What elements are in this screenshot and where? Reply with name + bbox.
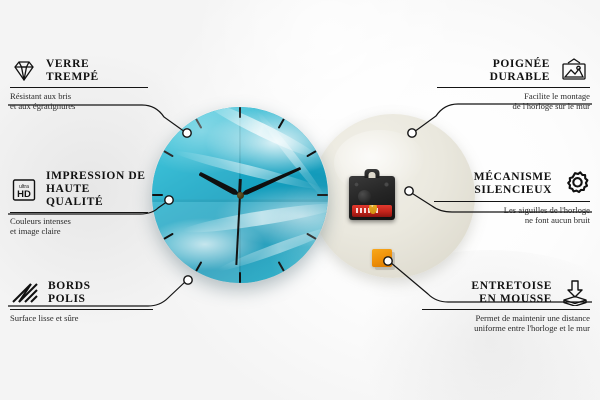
- feature-bords-polis: BORDS POLIS Surface lisse et sûre: [10, 280, 155, 323]
- feature-title: VERRE TREMPÉ: [46, 58, 99, 84]
- feature-poignee-durable: POIGNÉE DURABLE Facilite le montage de l…: [435, 58, 590, 112]
- battery-positive-terminal: [369, 205, 377, 214]
- svg-text:HD: HD: [17, 189, 31, 200]
- feature-title: POIGNÉE DURABLE: [490, 58, 550, 84]
- feature-entretoise-en-mousse: ENTRETOISE EN MOUSSE Permet de maintenir…: [420, 280, 590, 334]
- arrow-down-layers-icon: [560, 280, 590, 306]
- feature-impression-haute-qualite: ultra HD IMPRESSION DE HAUTE QUALITÉ Cou…: [10, 170, 150, 237]
- gear-icon: [560, 170, 590, 198]
- feature-divider: [434, 201, 590, 202]
- feature-description: Surface lisse et sûre: [10, 313, 155, 323]
- feature-divider: [422, 309, 590, 310]
- feature-header: VERRE TREMPÉ: [10, 58, 150, 84]
- feature-header: ENTRETOISE EN MOUSSE: [420, 280, 590, 306]
- feature-description: Couleurs intenses et image claire: [10, 216, 150, 237]
- movement-dial: [358, 190, 371, 203]
- diagonal-hatch-icon: [10, 281, 40, 305]
- ultra-hd-badge-icon: ultra HD: [10, 177, 38, 203]
- feature-mecanisme-silencieux: MÉCANISME SILENCIEUX Les aiguilles de l'…: [432, 170, 590, 226]
- feature-description: Permet de maintenir une distance uniform…: [420, 313, 590, 334]
- feature-header: MÉCANISME SILENCIEUX: [432, 170, 590, 198]
- feature-verre-trempe: VERRE TREMPÉ Résistant aux bris et aux é…: [10, 58, 150, 112]
- movement-hanger-tab: [365, 169, 380, 178]
- feature-header: BORDS POLIS: [10, 280, 155, 306]
- feature-description: Résistant aux bris et aux égratignures: [10, 91, 150, 112]
- infographic-canvas: VERRE TREMPÉ Résistant aux bris et aux é…: [0, 0, 600, 400]
- feature-header: POIGNÉE DURABLE: [435, 58, 590, 84]
- movement-screw: [384, 182, 389, 187]
- feature-title: MÉCANISME SILENCIEUX: [474, 171, 552, 197]
- feature-divider: [437, 87, 590, 88]
- feature-header: ultra HD IMPRESSION DE HAUTE QUALITÉ: [10, 170, 150, 209]
- foam-spacer: [372, 249, 392, 267]
- movement-screw: [354, 182, 359, 187]
- picture-hanger-icon: [558, 58, 590, 84]
- feature-divider: [10, 212, 148, 213]
- feature-description: Les aiguilles de l'horloge ne font aucun…: [432, 205, 590, 226]
- clock-front-face: [152, 107, 328, 283]
- feature-title: IMPRESSION DE HAUTE QUALITÉ: [46, 170, 150, 209]
- hand-center-cap: [237, 192, 244, 199]
- clock-tick-3: [240, 194, 328, 196]
- feature-description: Facilite le montage de l'horloge sur le …: [435, 91, 590, 112]
- battery: [352, 205, 392, 217]
- feature-divider: [10, 309, 153, 310]
- feature-title: ENTRETOISE EN MOUSSE: [471, 280, 552, 306]
- clock-tick-9: [152, 194, 240, 196]
- feature-divider: [10, 87, 148, 88]
- diamond-icon: [10, 59, 38, 83]
- feature-title: BORDS POLIS: [48, 280, 91, 306]
